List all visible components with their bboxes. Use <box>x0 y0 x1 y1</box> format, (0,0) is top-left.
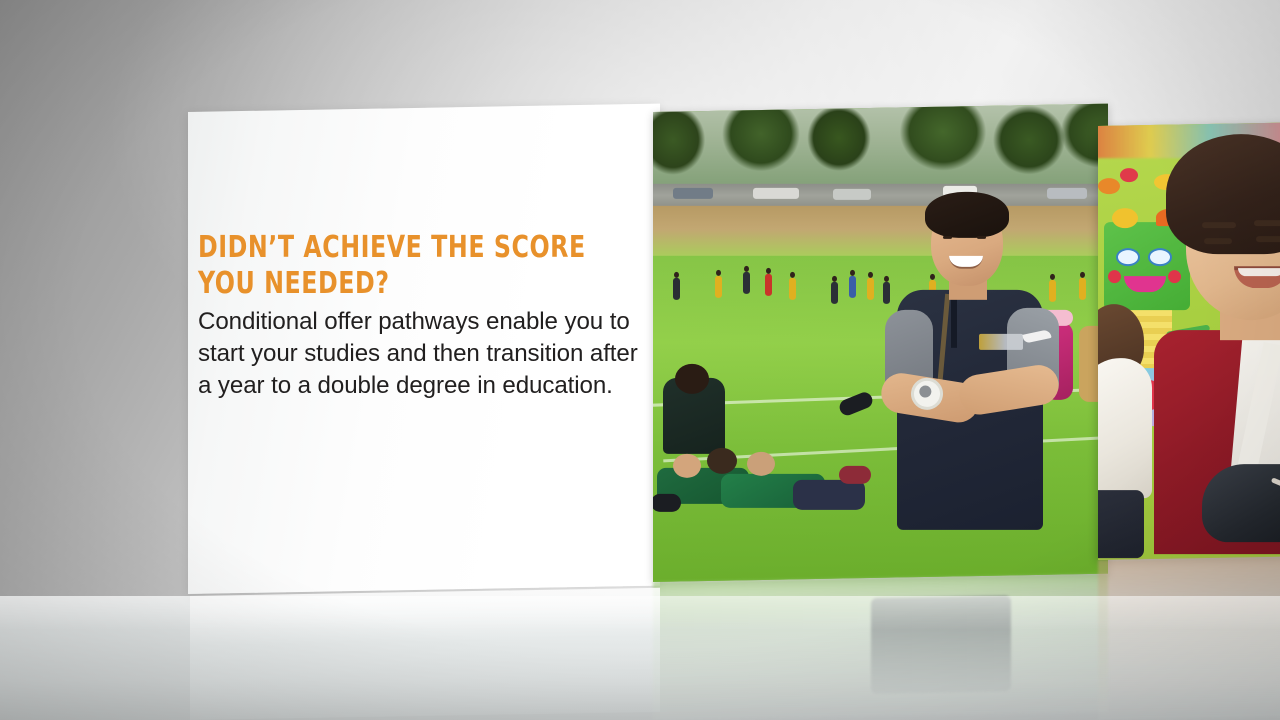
slide-stage: DIDN’T ACHIEVE THE SCORE YOU NEEDED? Con… <box>0 0 1280 720</box>
vignette-overlay <box>0 0 1280 720</box>
